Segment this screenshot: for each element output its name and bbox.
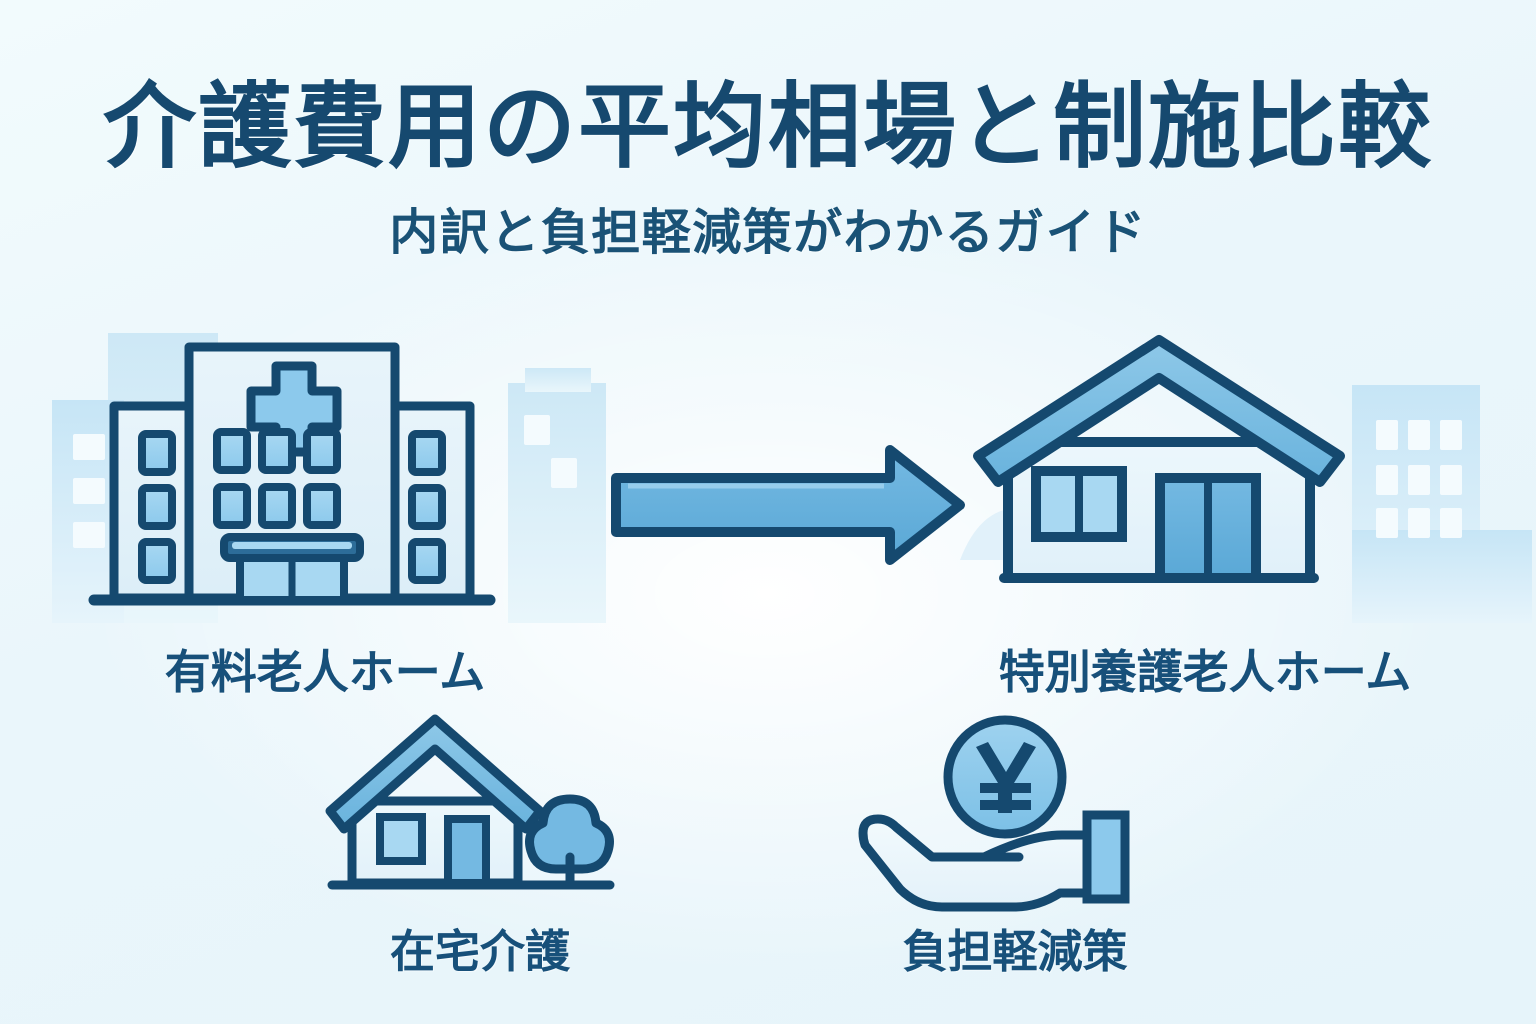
hand-holding-yen-coin-icon (845, 705, 1185, 905)
small-house-window-icon (380, 817, 422, 861)
item-special-nursing-home[interactable]: 特別養護老人ホーム (960, 330, 1450, 702)
caption-paid-nursing-home: 有料老人ホーム (90, 636, 560, 702)
house-window-icon (1036, 471, 1122, 537)
small-house-with-tree-icon (320, 705, 640, 905)
caption-special-nursing-home: 特別養護老人ホーム (960, 636, 1450, 702)
page-title: 介護費用の平均相場と制施比較 (0, 78, 1536, 177)
cuff-icon (1087, 815, 1125, 899)
header: 介護費用の平均相場と制施比較 内訳と負担軽減策がわかるガイド (0, 78, 1536, 264)
transition-arrow (608, 440, 968, 570)
tree-icon (530, 799, 610, 885)
entrance-icon (224, 537, 360, 600)
small-house-door-icon (448, 819, 486, 883)
item-paid-nursing-home[interactable]: 有料老人ホーム (90, 330, 560, 702)
right-arrow-icon (608, 440, 968, 570)
item-home-care[interactable]: 在宅介護 (320, 705, 640, 980)
page-subtitle: 内訳と負担軽減策がわかるガイド (0, 193, 1536, 264)
house-icon (960, 330, 1450, 620)
hospital-building-icon (90, 330, 560, 620)
caption-home-care: 在宅介護 (320, 915, 640, 980)
infographic-canvas: 介護費用の平均相場と制施比較 内訳と負担軽減策がわかるガイド (0, 0, 1536, 1024)
house-door-icon (1160, 478, 1256, 578)
caption-burden-reduction: 負担軽減策 (845, 915, 1185, 980)
item-burden-reduction[interactable]: 負担軽減策 (845, 705, 1185, 980)
